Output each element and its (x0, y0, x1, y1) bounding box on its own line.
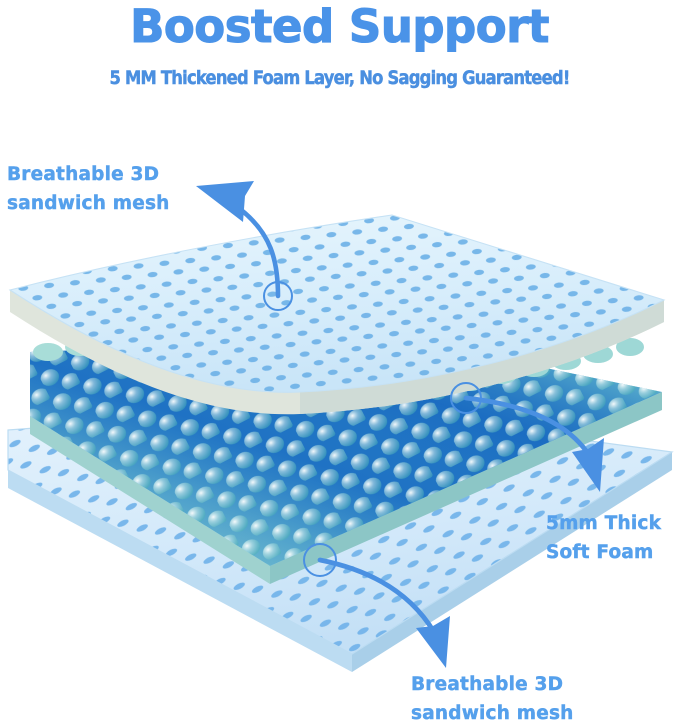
page-subtitle: 5 MM Thickened Foam Layer, No Sagging Gu… (48, 66, 632, 90)
page-title: Boosted Support (0, 2, 679, 52)
infographic-canvas: Boosted Support 5 MM Thickened Foam Laye… (0, 0, 679, 727)
callout-label-top-mesh: Breathable 3D sandwich mesh (7, 160, 170, 218)
callout-label-bottom-mesh: Breathable 3D sandwich mesh (411, 670, 574, 728)
layer-stack-illustration (0, 0, 679, 727)
callout-label-soft-foam: 5mm Thick Soft Foam (546, 509, 661, 567)
